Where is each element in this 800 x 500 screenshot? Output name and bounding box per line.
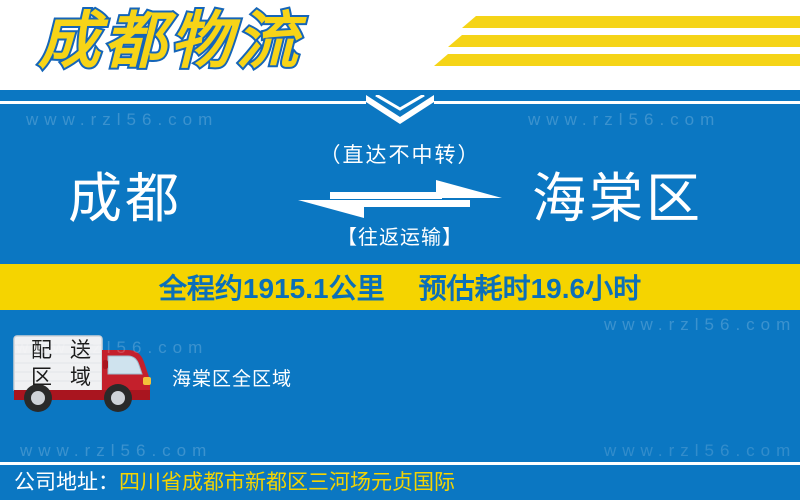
box-char-1: 配 [22,337,61,364]
total-distance: 全程约1915.1公里 [159,267,385,307]
box-char-3: 区 [22,364,61,391]
company-address-label: 公司地址： [14,470,119,496]
company-address-value: 四川省成都市新都区三河场元贞国际 [119,470,455,496]
bidirectional-arrow-icon [286,178,514,222]
box-char-2: 送 [61,337,100,364]
decorative-stripes [420,16,800,78]
destination-city: 海棠区 [532,168,703,230]
stripe-2 [448,35,800,47]
double-chevron-down-icon [366,95,434,125]
direct-shipping-note: （直达不中转） [0,143,800,169]
brand-title: 成都物流 [38,4,302,80]
divider-line-right [434,101,800,104]
logistics-banner: 成都物流 （直达不中转） 成都 海棠区 【往返运输】 [0,0,800,500]
truck-box-label: 配 送 区 域 [22,337,100,391]
box-char-4: 域 [61,364,100,391]
estimated-duration: 预估耗时19.6小时 [419,267,642,307]
roundtrip-note: 【往返运输】 [0,226,800,251]
coverage-area-text: 海棠区全区域 [172,368,292,392]
footer-bar: 公司地址： 四川省成都市新都区三河场元贞国际 [0,465,800,500]
stripe-1 [462,16,800,28]
header-bar: 成都物流 [0,0,800,90]
origin-city: 成都 [68,168,182,230]
info-band: 全程约1915.1公里 预估耗时19.6小时 [0,264,800,310]
divider-line-left [0,101,366,104]
stripe-3 [434,54,800,66]
